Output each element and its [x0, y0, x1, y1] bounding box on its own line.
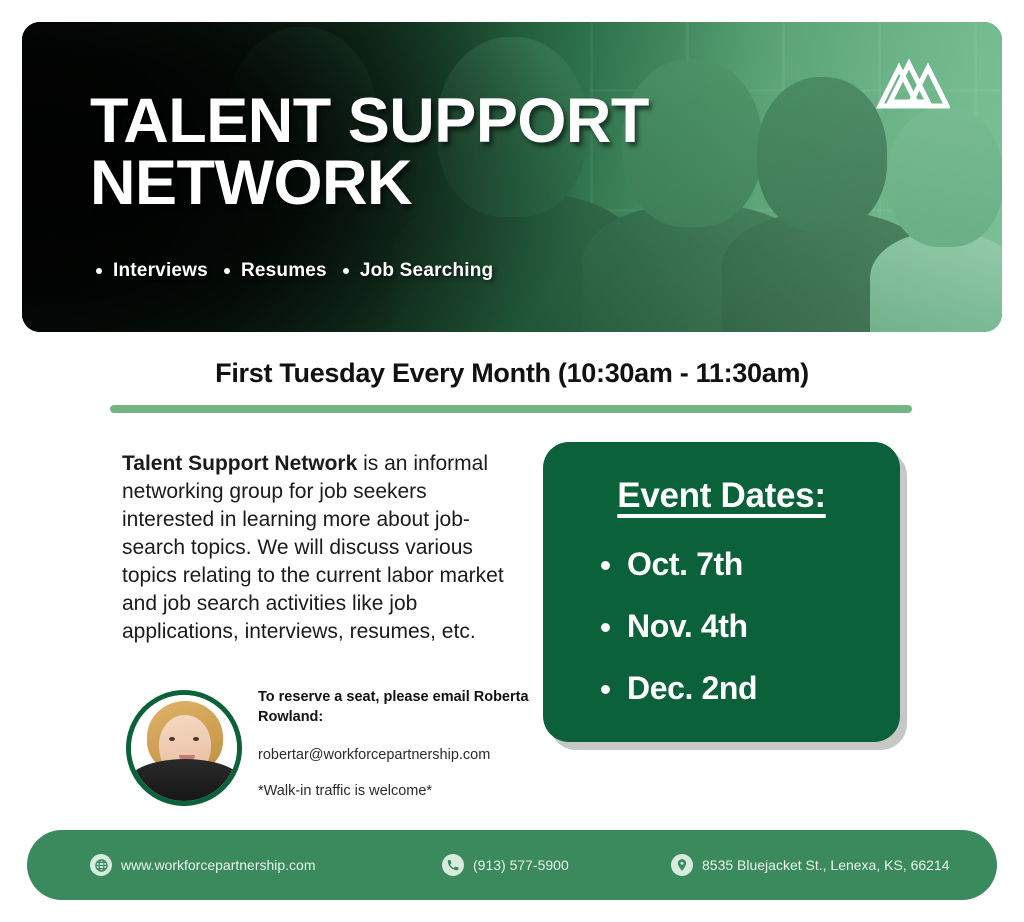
footer-address[interactable]: 8535 Bluejacket St., Lenexa, KS, 66214: [671, 854, 950, 876]
bullet-dot-icon: [96, 268, 102, 274]
section-divider: [110, 405, 912, 413]
interlocking-triangles-logo-icon: [876, 56, 950, 114]
avatar-eye-right: [193, 737, 199, 741]
avatar-eye-left: [169, 737, 175, 741]
footer-phone-label: (913) 577-5900: [473, 857, 569, 873]
footer-phone[interactable]: (913) 577-5900: [442, 854, 569, 876]
phone-icon: [442, 854, 464, 876]
event-date-item: Oct. 7th: [627, 546, 900, 583]
banner-topic-label: Job Searching: [360, 260, 494, 282]
bullet-dot-icon: [224, 268, 230, 274]
banner-topic-item: Interviews: [96, 260, 208, 282]
footer-website-label: www.workforcepartnership.com: [121, 857, 316, 873]
description-paragraph: Talent Support Network is an informal ne…: [122, 450, 522, 645]
footer-website[interactable]: www.workforcepartnership.com: [90, 854, 316, 876]
banner-topic-list: Interviews Resumes Job Searching: [96, 260, 493, 282]
description-text: is an informal networking group for job …: [122, 452, 504, 643]
avatar: [126, 690, 242, 806]
event-dates-title: Event Dates:: [543, 476, 900, 516]
banner-title: TALENT SUPPORT NETWORK: [90, 90, 790, 215]
globe-icon: [90, 854, 112, 876]
banner-topic-item: Job Searching: [327, 260, 494, 282]
contact-email[interactable]: robertar@workforcepartnership.com: [258, 747, 548, 763]
event-dates-list: Oct. 7th Nov. 4th Dec. 2nd: [627, 546, 900, 707]
event-date-item: Dec. 2nd: [627, 670, 900, 707]
avatar-shirt: [127, 759, 242, 806]
walk-in-note: *Walk-in traffic is welcome*: [258, 783, 548, 799]
location-pin-icon: [671, 854, 693, 876]
reservation-instructions: To reserve a seat, please email Roberta …: [258, 688, 548, 727]
event-date-item: Nov. 4th: [627, 608, 900, 645]
footer-address-label: 8535 Bluejacket St., Lenexa, KS, 66214: [702, 857, 950, 873]
banner-topic-label: Interviews: [113, 260, 208, 282]
banner-topic-item: Resumes: [208, 260, 327, 282]
meeting-schedule-heading: First Tuesday Every Month (10:30am - 11:…: [0, 358, 1024, 389]
footer-bar: www.workforcepartnership.com (913) 577-5…: [27, 830, 997, 900]
description-lead-bold: Talent Support Network: [122, 452, 357, 475]
bullet-dot-icon: [343, 268, 349, 274]
banner-topic-label: Resumes: [241, 260, 327, 282]
header-banner: TALENT SUPPORT NETWORK Interviews Resume…: [22, 22, 1002, 332]
event-dates-card: Event Dates: Oct. 7th Nov. 4th Dec. 2nd: [543, 442, 900, 742]
contact-text-group: To reserve a seat, please email Roberta …: [258, 688, 548, 799]
flyer-page: TALENT SUPPORT NETWORK Interviews Resume…: [0, 0, 1024, 922]
